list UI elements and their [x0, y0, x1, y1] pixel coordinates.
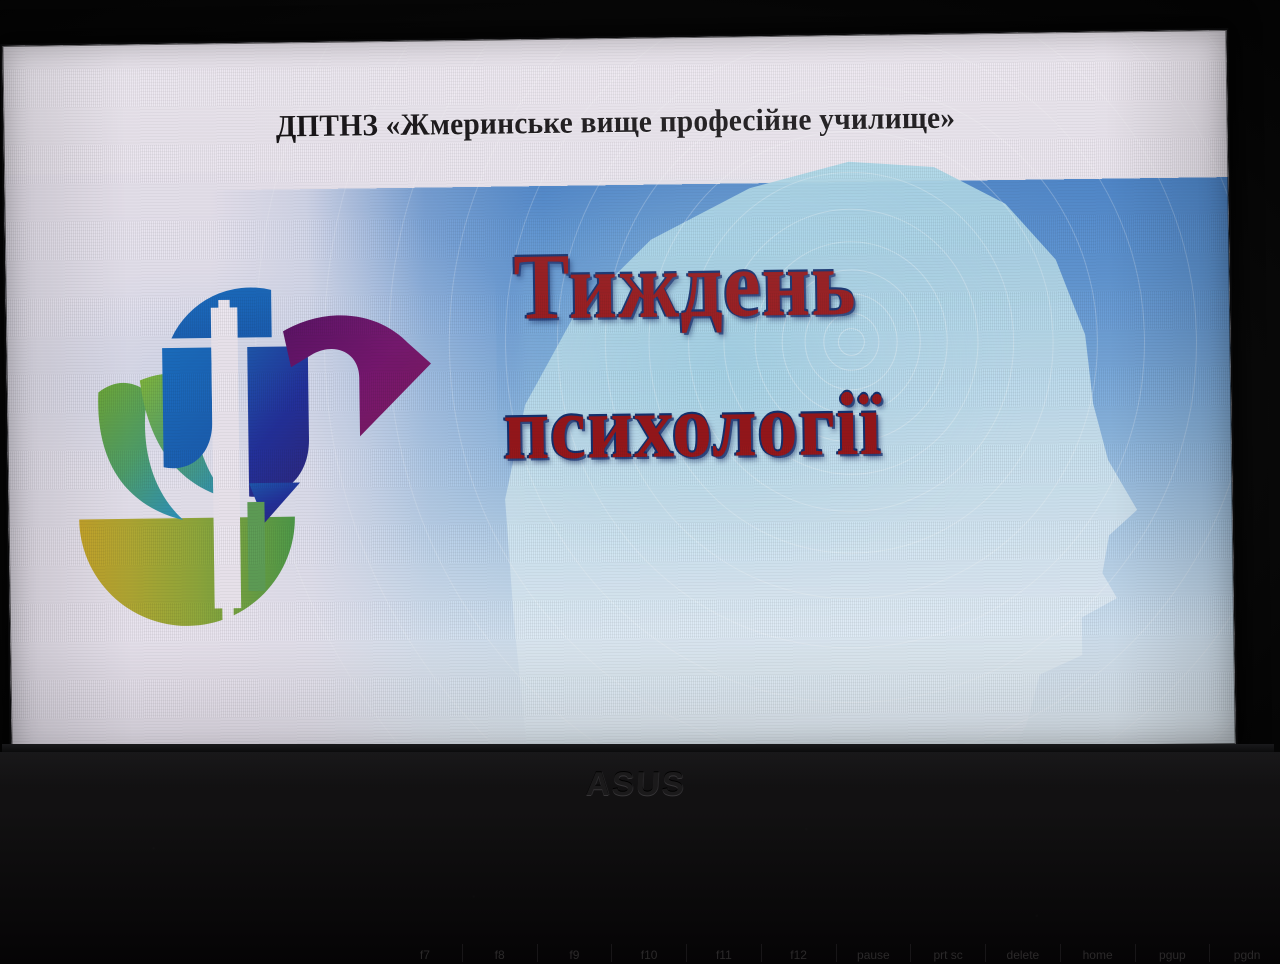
laptop-screen-panel: ДПТНЗ «Жмеринське вище професійне училищ…	[2, 30, 1235, 760]
heading-line-2: психології	[503, 380, 883, 475]
asus-brand-logo-icon: ASUS	[555, 762, 717, 806]
presentation-slide: ДПТНЗ «Жмеринське вище професійне училищ…	[2, 30, 1235, 760]
psi-psychology-logo	[58, 276, 442, 659]
laptop-photo: ДПТНЗ «Жмеринське вище професійне училищ…	[0, 0, 1280, 964]
heading-line-1: Тиждень	[513, 237, 857, 336]
